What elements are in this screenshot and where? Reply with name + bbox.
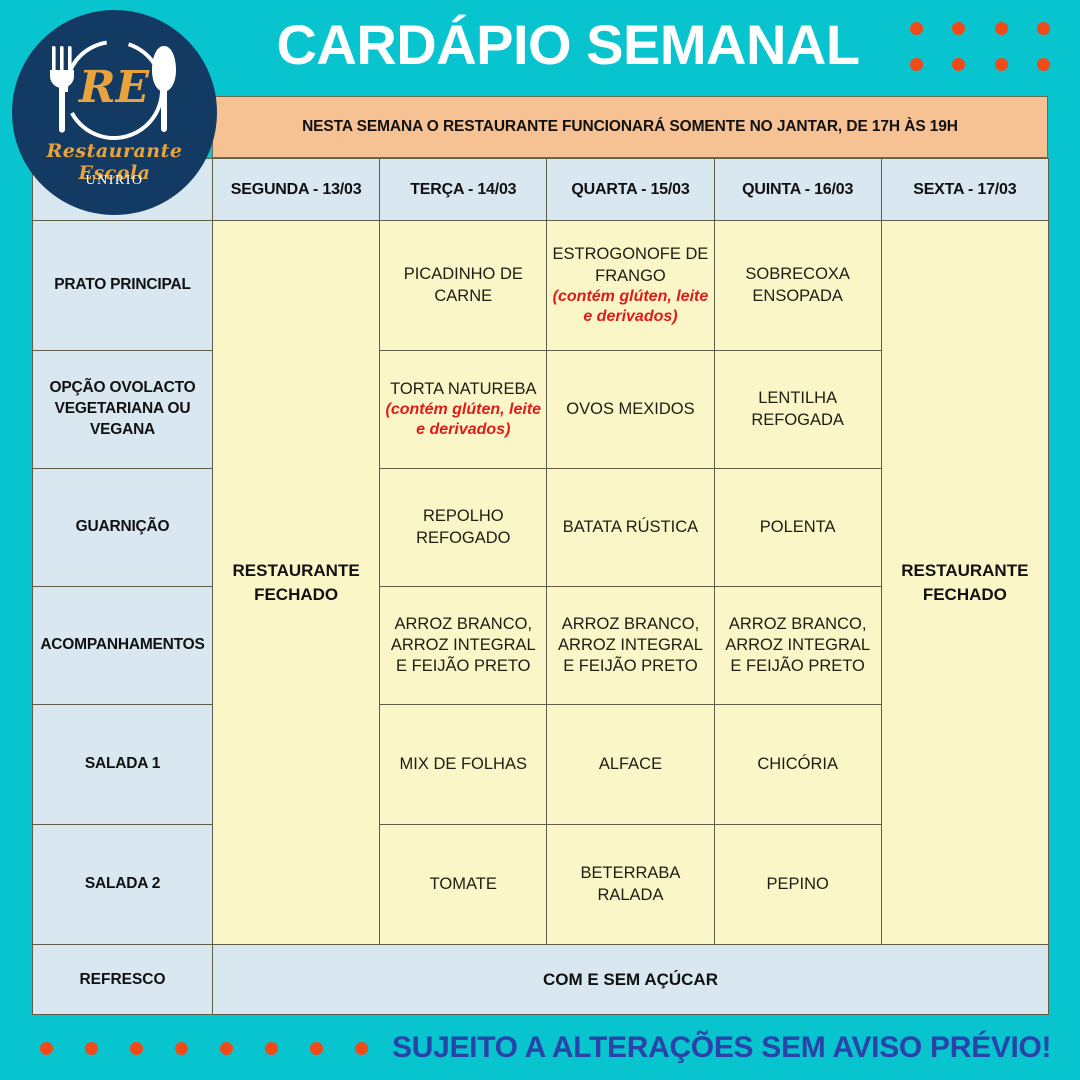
- cell-terca-salada-2: TOMATE: [380, 825, 547, 945]
- allergen-warning: (contém glúten, leite e derivados): [551, 287, 709, 327]
- dot-icon: [1037, 22, 1050, 35]
- dot-icon: [910, 58, 923, 71]
- cell-terca-salada-1: MIX DE FOLHAS: [380, 705, 547, 825]
- footer-disclaimer-text: SUJEITO A ALTERAÇÕES SEM AVISO PRÉVIO!: [392, 1031, 1051, 1065]
- row-label-refresco: REFRESCO: [33, 945, 213, 1015]
- cell-quinta-opcao-vegetariana: LENTILHA REFOGADA: [714, 351, 881, 469]
- row-label-acompanhamentos: ACOMPANHAMENTOS: [33, 587, 213, 705]
- cell-quarta-salada-1: ALFACE: [547, 705, 714, 825]
- dot-icon: [995, 22, 1008, 35]
- cell-terca-opcao-vegetariana: TORTA NATUREBA (contém glúten, leite e d…: [380, 351, 547, 469]
- closed-line-1: RESTAURANTE: [233, 561, 360, 580]
- dot-icon: [85, 1042, 98, 1055]
- dot-icon: [40, 1042, 53, 1055]
- decorative-dot-grid: [895, 10, 1065, 82]
- closed-line-2: FECHADO: [254, 585, 338, 604]
- cell-quarta-acompanhamentos: ARROZ BRANCO, ARROZ INTEGRAL E FEIJÃO PR…: [547, 587, 714, 705]
- cell-quinta-guarnicao: POLENTA: [714, 469, 881, 587]
- cell-quarta-opcao-vegetariana: OVOS MEXIDOS: [547, 351, 714, 469]
- restaurante-escola-logo: RE Restaurante Escola UNIRIO: [12, 10, 217, 215]
- dot-icon: [1037, 58, 1050, 71]
- cell-refresco-value: COM E SEM AÇÚCAR: [213, 945, 1049, 1015]
- table-row-refresco: REFRESCO COM E SEM AÇÚCAR: [33, 945, 1049, 1015]
- fork-icon: [50, 46, 74, 133]
- row-label-salada-2: SALADA 2: [33, 825, 213, 945]
- closed-line-1: RESTAURANTE: [901, 561, 1028, 580]
- cell-sexta-closed: RESTAURANTE FECHADO: [881, 221, 1048, 945]
- table-body: PRATO PRINCIPAL RESTAURANTE FECHADO PICA…: [33, 221, 1049, 1015]
- row-label-guarnicao: GUARNIÇÃO: [33, 469, 213, 587]
- dish-name: ESTROGONOFE DE FRANGO: [553, 245, 709, 284]
- dot-icon: [175, 1042, 188, 1055]
- dot-icon: [265, 1042, 278, 1055]
- cell-quinta-acompanhamentos: ARROZ BRANCO, ARROZ INTEGRAL E FEIJÃO PR…: [714, 587, 881, 705]
- dot-icon: [910, 22, 923, 35]
- cell-segunda-closed: RESTAURANTE FECHADO: [213, 221, 380, 945]
- cell-terca-guarnicao: REPOLHO REFOGADO: [380, 469, 547, 587]
- cell-quarta-salada-2: BETERRABA RALADA: [547, 825, 714, 945]
- dot-icon: [995, 58, 1008, 71]
- cell-quinta-prato-principal: SOBRECOXA ENSOPADA: [714, 221, 881, 351]
- page-title: CARDÁPIO SEMANAL: [248, 8, 888, 82]
- closed-line-2: FECHADO: [923, 585, 1007, 604]
- weekly-notice-banner: NESTA SEMANA O RESTAURANTE FUNCIONARÁ SO…: [212, 96, 1048, 158]
- cell-terca-acompanhamentos: ARROZ BRANCO, ARROZ INTEGRAL E FEIJÃO PR…: [380, 587, 547, 705]
- dot-icon: [952, 22, 965, 35]
- table-row: PRATO PRINCIPAL RESTAURANTE FECHADO PICA…: [33, 221, 1049, 351]
- dot-icon: [220, 1042, 233, 1055]
- cell-quarta-guarnicao: BATATA RÚSTICA: [547, 469, 714, 587]
- footer-bar: SUJEITO A ALTERAÇÕES SEM AVISO PRÉVIO!: [0, 1016, 1080, 1080]
- menu-table-container: NESTA SEMANA O RESTAURANTE FUNCIONARÁ SO…: [32, 96, 1048, 1012]
- row-label-opcao-vegetariana: OPÇÃO OVOLACTO VEGETARIANA OU VEGANA: [33, 351, 213, 469]
- logo-monogram: RE: [77, 62, 151, 113]
- day-header-segunda: SEGUNDA - 13/03: [213, 159, 380, 221]
- day-header-sexta: SEXTA - 17/03: [881, 159, 1048, 221]
- cell-terca-prato-principal: PICADINHO DE CARNE: [380, 221, 547, 351]
- day-header-quarta: QUARTA - 15/03: [547, 159, 714, 221]
- dot-icon: [310, 1042, 323, 1055]
- day-header-terca: TERÇA - 14/03: [380, 159, 547, 221]
- cell-quarta-prato-principal: ESTROGONOFE DE FRANGO (contém glúten, le…: [547, 221, 714, 351]
- dish-name: TORTA NATUREBA: [390, 380, 536, 398]
- cell-quinta-salada-1: CHICÓRIA: [714, 705, 881, 825]
- dot-icon: [355, 1042, 368, 1055]
- dot-icon: [952, 58, 965, 71]
- row-label-salada-1: SALADA 1: [33, 705, 213, 825]
- logo-institution-text: UNIRIO: [12, 173, 217, 189]
- knife-icon: [152, 46, 176, 132]
- allergen-warning: (contém glúten, leite e derivados): [384, 400, 542, 440]
- cell-quinta-salada-2: PEPINO: [714, 825, 881, 945]
- footer-dot-row: [40, 1042, 368, 1055]
- day-header-quinta: QUINTA - 16/03: [714, 159, 881, 221]
- dot-icon: [130, 1042, 143, 1055]
- row-label-prato-principal: PRATO PRINCIPAL: [33, 221, 213, 351]
- weekly-menu-table: SEGUNDA - 13/03 TERÇA - 14/03 QUARTA - 1…: [32, 158, 1049, 1015]
